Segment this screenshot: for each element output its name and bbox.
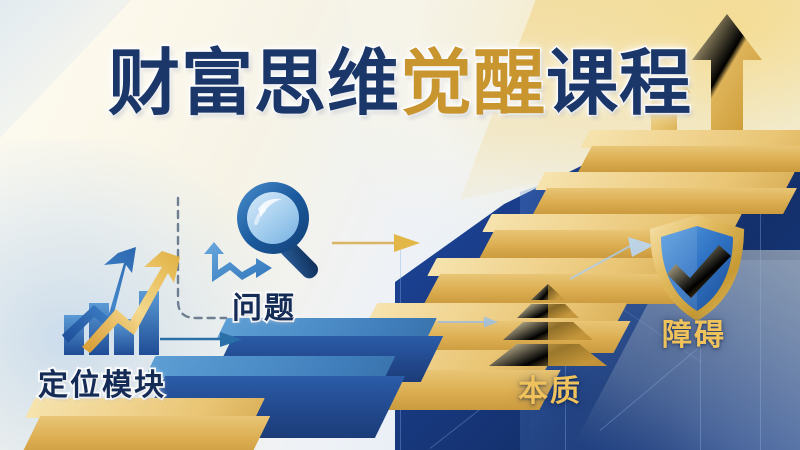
label-obstacle: 障碍 xyxy=(662,310,726,354)
title-segment-2: 觉醒 xyxy=(400,48,546,120)
staircase-step xyxy=(540,172,790,190)
pyramid-icon xyxy=(487,282,609,373)
bar-chart-growth-icon xyxy=(58,243,218,363)
title-segment-3: 课程 xyxy=(546,48,692,120)
arrow-right-icon xyxy=(332,232,422,259)
title-segment-1: 财富思维 xyxy=(108,48,400,120)
label-problem: 问题 xyxy=(232,283,296,327)
label-positioning-module: 定位模块 xyxy=(38,360,166,404)
page-title: 财富思维觉醒课程 xyxy=(0,48,800,120)
poster-canvas: 财富思维觉醒课程 定位模块 问题 本质 障碍 xyxy=(0,0,800,450)
staircase-step xyxy=(585,130,800,148)
label-essence: 本质 xyxy=(518,366,582,410)
